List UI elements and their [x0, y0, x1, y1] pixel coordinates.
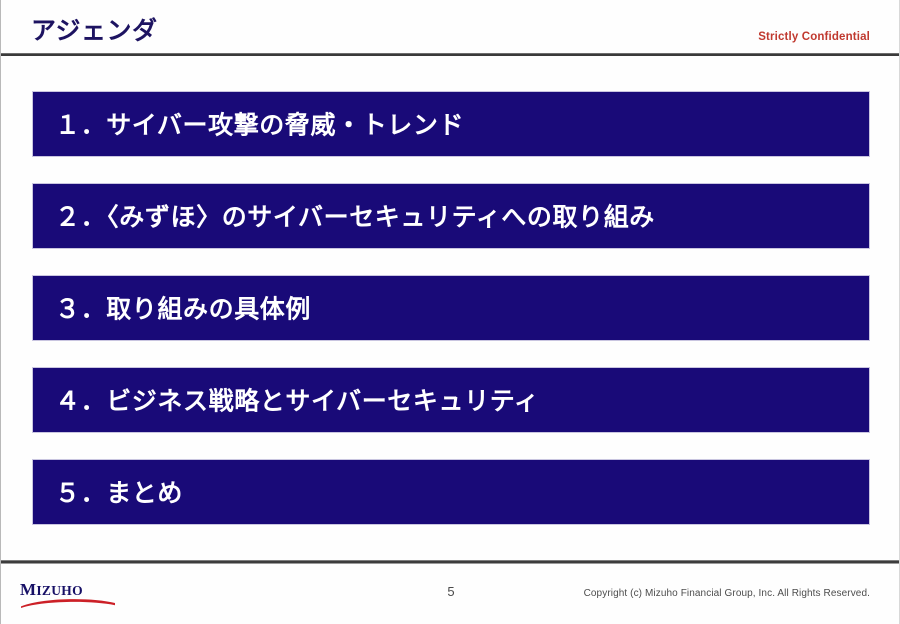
agenda-item-label: １．サイバー攻撃の脅威・トレンド [55, 105, 464, 141]
slide-agenda: アジェンダ Strictly Confidential １．サイバー攻撃の脅威・… [0, 0, 900, 624]
agenda-item-label: ２．〈みずほ〉のサイバーセキュリティへの取り組み [55, 197, 655, 233]
agenda-item-label: ４．ビジネス戦略とサイバーセキュリティ [55, 381, 539, 417]
slide-header: アジェンダ Strictly Confidential [1, 0, 900, 56]
agenda-list: １．サイバー攻撃の脅威・トレンド ２．〈みずほ〉のサイバーセキュリティへの取り組… [33, 92, 869, 524]
agenda-item-label: ３．取り組みの具体例 [55, 289, 311, 325]
page-title: アジェンダ [31, 11, 158, 47]
agenda-item-4[interactable]: ４．ビジネス戦略とサイバーセキュリティ [33, 368, 869, 432]
agenda-item-1[interactable]: １．サイバー攻撃の脅威・トレンド [33, 92, 869, 156]
confidentiality-label: Strictly Confidential [758, 31, 870, 43]
agenda-item-3[interactable]: ３．取り組みの具体例 [33, 276, 869, 340]
copyright-notice: Copyright (c) Mizuho Financial Group, In… [584, 588, 870, 599]
agenda-item-5[interactable]: ５．まとめ [33, 460, 869, 524]
slide-footer: MIZUHO 5 Copyright (c) Mizuho Financial … [1, 564, 900, 624]
header-divider [1, 53, 900, 56]
agenda-item-2[interactable]: ２．〈みずほ〉のサイバーセキュリティへの取り組み [33, 184, 869, 248]
agenda-item-label: ５．まとめ [55, 473, 183, 509]
